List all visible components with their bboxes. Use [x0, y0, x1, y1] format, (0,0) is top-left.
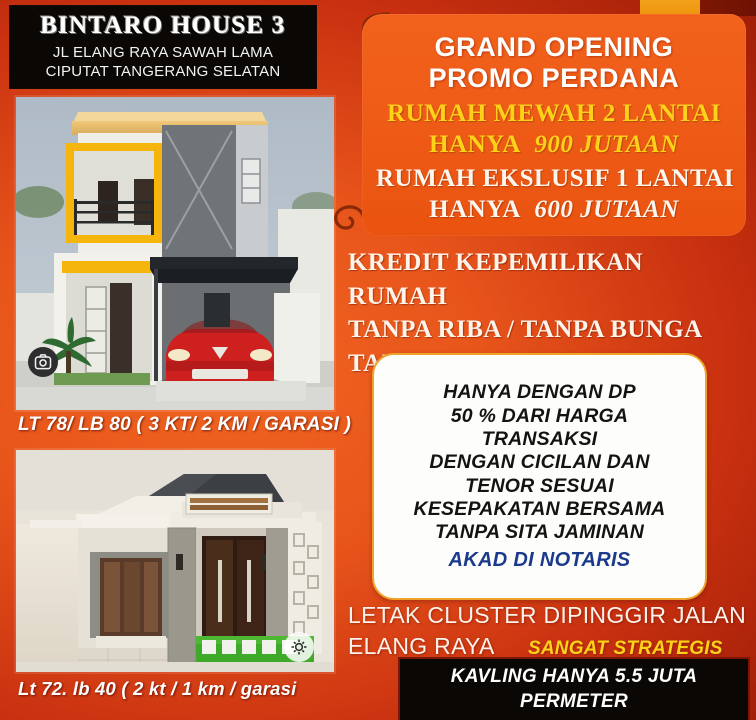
- title-plate: BINTARO HOUSE 3 JL ELANG RAYA SAWAH LAMA…: [10, 6, 316, 88]
- dp-line-4: DENGAN CICILAN DAN: [429, 451, 649, 474]
- banner-hanya-2: HANYA: [429, 196, 520, 223]
- dp-line-6: KESEPAKATAN BERSAMA: [414, 498, 666, 521]
- kpr-line-2: TANPA RIBA / TANPA BUNGA: [348, 313, 748, 347]
- location-text-block: LETAK CLUSTER DIPINGGIR JALAN ELANG RAYA…: [348, 600, 754, 662]
- banner-hanya-1: HANYA: [429, 131, 520, 158]
- kpr-line-1: KREDIT KEPEMILIKAN RUMAH: [348, 246, 748, 313]
- banner-rumah-ekslusif: RUMAH EKSLUSIF 1 LANTAI: [376, 164, 732, 195]
- photo-2-caption: Lt 72. lb 40 ( 2 kt / 1 km / garasi: [18, 678, 296, 700]
- two-story-house-photo: [16, 97, 334, 410]
- banner-promo-perdana: PROMO PERDANA: [376, 63, 732, 94]
- banner-rumah-mewah: RUMAH MEWAH 2 LANTAI: [376, 99, 732, 130]
- one-story-house-photo: [16, 450, 334, 672]
- promo-banner: GRAND OPENING PROMO PERDANA RUMAH MEWAH …: [362, 14, 746, 236]
- address-line-2: CIPUTAT TANGERANG SELATAN: [46, 62, 281, 81]
- photo-1-caption: LT 78/ LB 80 ( 3 KT/ 2 KM / GARASI ): [18, 414, 351, 436]
- address-line-1: JL ELANG RAYA SAWAH LAMA: [53, 43, 273, 62]
- strategis-highlight: SANGAT STRATEGIS: [528, 638, 723, 659]
- banner-harga-900-row: HANYA 900 JUTAAN: [376, 130, 732, 161]
- photo-watermark-icon: [28, 347, 58, 377]
- akad-di-notaris-label: AKAD DI NOTARIS: [449, 549, 631, 572]
- dp-line-7: TANPA SITA JAMINAN: [435, 521, 644, 544]
- banner-price-600: 600 JUTAAN: [534, 196, 679, 223]
- banner-harga-600-row: HANYA 600 JUTAAN: [376, 195, 732, 226]
- kavling-price-line-2: PERMETER: [520, 690, 628, 715]
- top-amber-strip: [640, 0, 700, 14]
- dp-line-5: TENOR SESUAI: [465, 475, 614, 498]
- flyer-canvas: BINTARO HOUSE 3 JL ELANG RAYA SAWAH LAMA…: [0, 0, 756, 720]
- location-line-2-row: ELANG RAYA SANGAT STRATEGIS: [348, 631, 754, 662]
- dp-line-3: TRANSAKSI: [482, 428, 598, 451]
- banner-grand-opening: GRAND OPENING: [376, 32, 732, 63]
- kavling-price-line-1: KAVLING HANYA 5.5 JUTA: [451, 665, 698, 690]
- page-title: BINTARO HOUSE 3: [40, 13, 285, 39]
- location-line-2: ELANG RAYA: [348, 633, 493, 659]
- dp-terms-card: HANYA DENGAN DP 50 % DARI HARGA TRANSAKS…: [372, 353, 707, 600]
- two-story-house-illustration: [16, 97, 334, 410]
- kavling-price-bar: KAVLING HANYA 5.5 JUTA PERMETER: [400, 659, 748, 720]
- photo-watermark-icon: [284, 632, 314, 662]
- banner-price-900: 900 JUTAAN: [534, 131, 679, 158]
- dp-line-2: 50 % DARI HARGA: [451, 405, 628, 428]
- location-line-1: LETAK CLUSTER DIPINGGIR JALAN: [348, 600, 754, 631]
- dp-line-1: HANYA DENGAN DP: [443, 381, 636, 404]
